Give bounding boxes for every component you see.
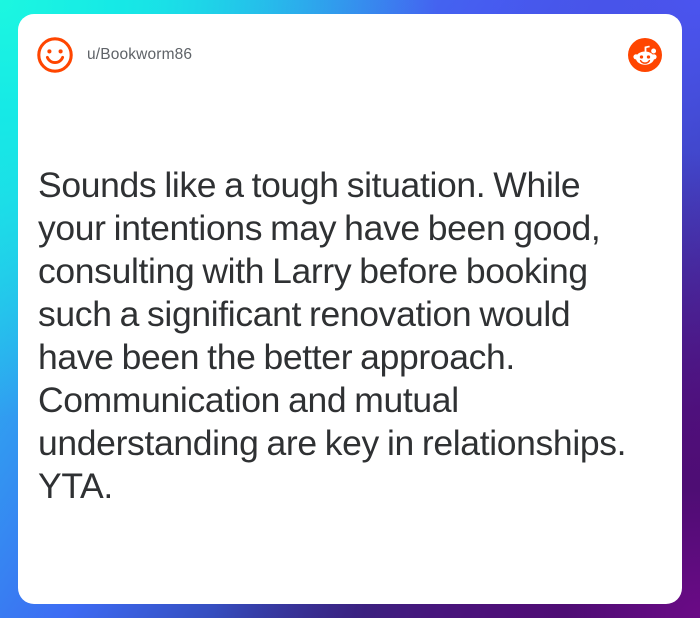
gradient-background: u/Bookworm86 Sounds like a tough (0, 0, 700, 618)
reddit-comment-card: u/Bookworm86 Sounds like a tough (18, 14, 682, 604)
username-label: u/Bookworm86 (87, 46, 192, 64)
smiley-face-icon (36, 36, 74, 74)
post-body-text: Sounds like a tough situation. While you… (38, 164, 653, 508)
reddit-snoo-icon[interactable] (628, 38, 662, 72)
card-header: u/Bookworm86 (18, 14, 682, 96)
